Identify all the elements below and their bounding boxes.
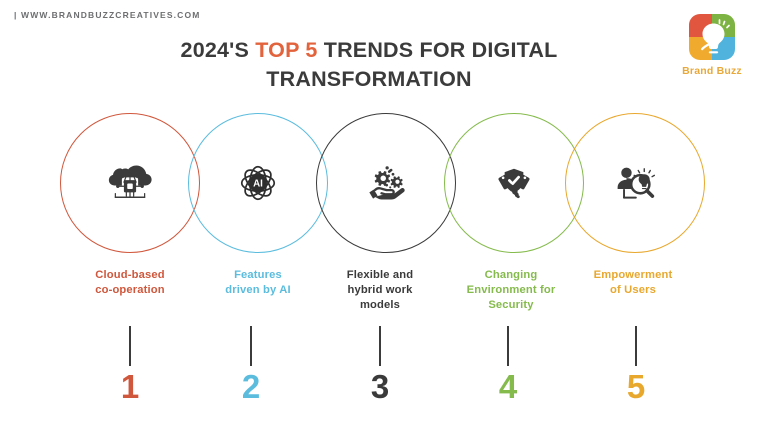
connector-line-3 <box>379 326 381 366</box>
ai-atom-icon: AI <box>188 113 328 253</box>
page-title: 2024'S TOP 5 TRENDS FOR DIGITAL TRANSFOR… <box>134 36 604 93</box>
hand-gears-icon <box>316 113 456 253</box>
step-number-1: 1 <box>100 370 160 403</box>
trend-label-3: Flexible andhybrid workmodels <box>305 268 455 313</box>
step-number-5: 5 <box>606 370 666 403</box>
connector-line-4 <box>507 326 509 366</box>
lightbulb-logo-icon <box>689 14 735 60</box>
step-row: 12345 <box>0 326 768 422</box>
title-part1: 2024'S <box>181 38 256 62</box>
site-url-text: | WWW.BRANDBUZZCREATIVES.COM <box>14 10 200 20</box>
step-number-2: 2 <box>221 370 281 403</box>
brand-logo: Brand Buzz <box>672 14 752 77</box>
infographic-canvas: | WWW.BRANDBUZZCREATIVES.COM Brand Buzz … <box>0 0 768 432</box>
step-number-4: 4 <box>478 370 538 403</box>
title-highlight: TOP 5 <box>255 38 317 62</box>
handshake-shield-icon <box>444 113 584 253</box>
svg-text:AI: AI <box>253 179 263 190</box>
connector-line-5 <box>635 326 637 366</box>
logo-text: Brand Buzz <box>682 65 742 77</box>
step-number-3: 3 <box>350 370 410 403</box>
user-magnifier-bulb-icon <box>565 113 705 253</box>
connector-line-1 <box>129 326 131 366</box>
cloud-chip-icon <box>60 113 200 253</box>
trend-label-5: Empowermentof Users <box>558 268 708 298</box>
logo-mark <box>689 14 735 60</box>
connector-line-2 <box>250 326 252 366</box>
label-row: Cloud-basedco-operationFeaturesdriven by… <box>0 268 768 324</box>
circle-row: AI <box>0 113 768 255</box>
